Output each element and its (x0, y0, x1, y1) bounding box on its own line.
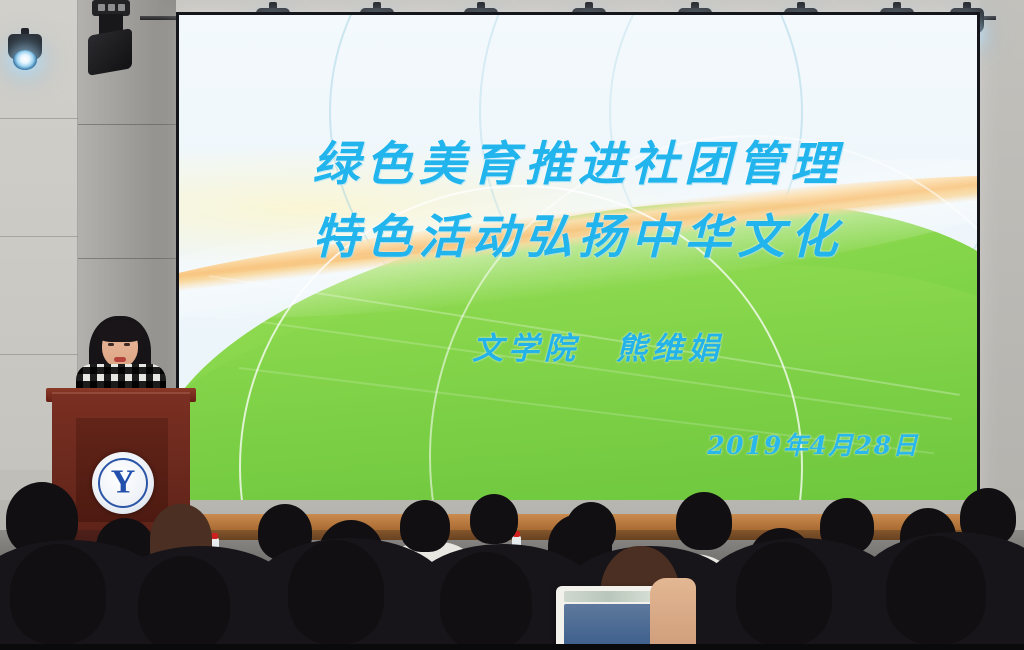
presenter-fringe (98, 320, 142, 342)
stage-spotlight (8, 28, 42, 74)
presentation-slide: 绿色美育推进社团管理 特色活动弘扬中华文化 文学院 熊维娟 2019年4月28日 (179, 15, 977, 511)
phone-camera-strip (564, 591, 652, 602)
presenter-eye (124, 343, 130, 346)
audience-head (886, 536, 986, 644)
wall-panel-right (980, 0, 1024, 500)
presenter-mouth (114, 357, 126, 362)
audience-head (676, 492, 732, 550)
slide-date: 2019年4月28日 (707, 426, 919, 462)
audience (0, 468, 1024, 650)
lecture-hall-photo: 绿色美育推进社团管理 特色活动弘扬中华文化 文学院 熊维娟 2019年4月28日… (0, 0, 1024, 650)
projection-screen: 绿色美育推进社团管理 特色活动弘扬中华文化 文学院 熊维娟 2019年4月28日 (176, 12, 980, 514)
photo-bottom-edge (0, 644, 1024, 650)
audience-head (400, 500, 450, 552)
presenter-eye (108, 343, 114, 346)
slide-text-block: 绿色美育推进社团管理 特色活动弘扬中华文化 文学院 熊维娟 2019年4月28日 (179, 15, 977, 511)
audience-head (736, 542, 832, 646)
hand-holding-phone (650, 578, 696, 650)
smartphone-recording (556, 586, 660, 650)
audience-head (288, 540, 384, 644)
slide-presenter: 文学院 熊维娟 (179, 323, 977, 368)
audience-head (470, 494, 518, 544)
audience-head (440, 552, 532, 650)
audience-head (138, 556, 230, 650)
slide-title-line-2: 特色活动弘扬中华文化 (179, 198, 977, 267)
moving-head-light (86, 0, 136, 76)
slide-title-line-1: 绿色美育推进社团管理 (179, 125, 977, 194)
audience-head (10, 544, 106, 644)
